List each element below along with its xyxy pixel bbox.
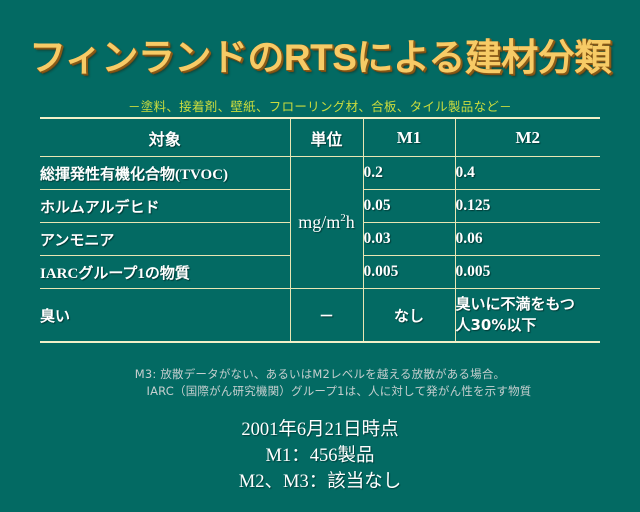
classification-table-container: 対象 単位 M1 M2 総揮発性有機化合物(TVOC) mg/m2h 0.2 0… bbox=[40, 117, 600, 343]
cell-subject: IARCグループ1の物質 bbox=[40, 256, 290, 289]
cell-m2: 0.005 bbox=[455, 256, 600, 289]
footnotes: M3: 放散データがない、あるいはM2レベルを越える放散がある場合。 IARC（… bbox=[0, 366, 640, 400]
footnote-line-1: M3: 放散データがない、あるいはM2レベルを越える放散がある場合。 bbox=[0, 366, 640, 383]
cell-m2-line2: 人30%以下 bbox=[456, 316, 537, 334]
cell-unit-value: mg/m2h bbox=[290, 157, 363, 289]
cell-m1: 0.2 bbox=[363, 157, 455, 190]
cell-m2: 0.06 bbox=[455, 223, 600, 256]
cell-m1: 0.005 bbox=[363, 256, 455, 289]
cell-subject: アンモニア bbox=[40, 223, 290, 256]
summary-date: 2001年6月21日時点 bbox=[0, 417, 640, 443]
column-header-unit: 単位 bbox=[290, 118, 363, 157]
column-header-subject: 対象 bbox=[40, 118, 290, 157]
cell-m2: 0.125 bbox=[455, 190, 600, 223]
table-row: 総揮発性有機化合物(TVOC) mg/m2h 0.2 0.4 bbox=[40, 157, 600, 190]
unit-tail: h bbox=[346, 212, 355, 232]
summary-note: 2001年6月21日時点 M1：456製品 M2、M3：該当なし bbox=[0, 417, 640, 495]
footnote-line-2: IARC（国際がん研究機関）グループ1は、人に対して発がん性を示す物質 bbox=[0, 383, 640, 400]
classification-table: 対象 単位 M1 M2 総揮発性有機化合物(TVOC) mg/m2h 0.2 0… bbox=[40, 117, 600, 343]
cell-subject: ホルムアルデヒド bbox=[40, 190, 290, 223]
slide-root: { "slide": { "title": "フィンランドのRTSによる建材分類… bbox=[0, 0, 640, 512]
cell-m2: 0.4 bbox=[455, 157, 600, 190]
table-row-odor: 臭い － なし 臭いに不満をもつ 人30%以下 bbox=[40, 289, 600, 343]
cell-subject: 総揮発性有機化合物(TVOC) bbox=[40, 157, 290, 190]
table-header-row: 対象 単位 M1 M2 bbox=[40, 118, 600, 157]
cell-m2: 臭いに不満をもつ 人30%以下 bbox=[455, 289, 600, 343]
cell-unit: － bbox=[290, 289, 363, 343]
summary-m1-count: M1：456製品 bbox=[0, 443, 640, 469]
cell-m1: 0.05 bbox=[363, 190, 455, 223]
cell-m2-line1: 臭いに不満をもつ bbox=[456, 295, 575, 313]
summary-m2-m3-count: M2、M3：該当なし bbox=[0, 469, 640, 495]
cell-subject: 臭い bbox=[40, 289, 290, 343]
page-title: フィンランドのRTSによる建材分類 bbox=[0, 36, 640, 80]
cell-m1: なし bbox=[363, 289, 455, 343]
column-header-m2: M2 bbox=[455, 118, 600, 157]
unit-base: mg/m bbox=[298, 212, 340, 232]
column-header-m1: M1 bbox=[363, 118, 455, 157]
cell-m1: 0.03 bbox=[363, 223, 455, 256]
page-subtitle: －塗料、接着剤、壁紙、フローリング材、合板、タイル製品など－ bbox=[0, 98, 640, 116]
